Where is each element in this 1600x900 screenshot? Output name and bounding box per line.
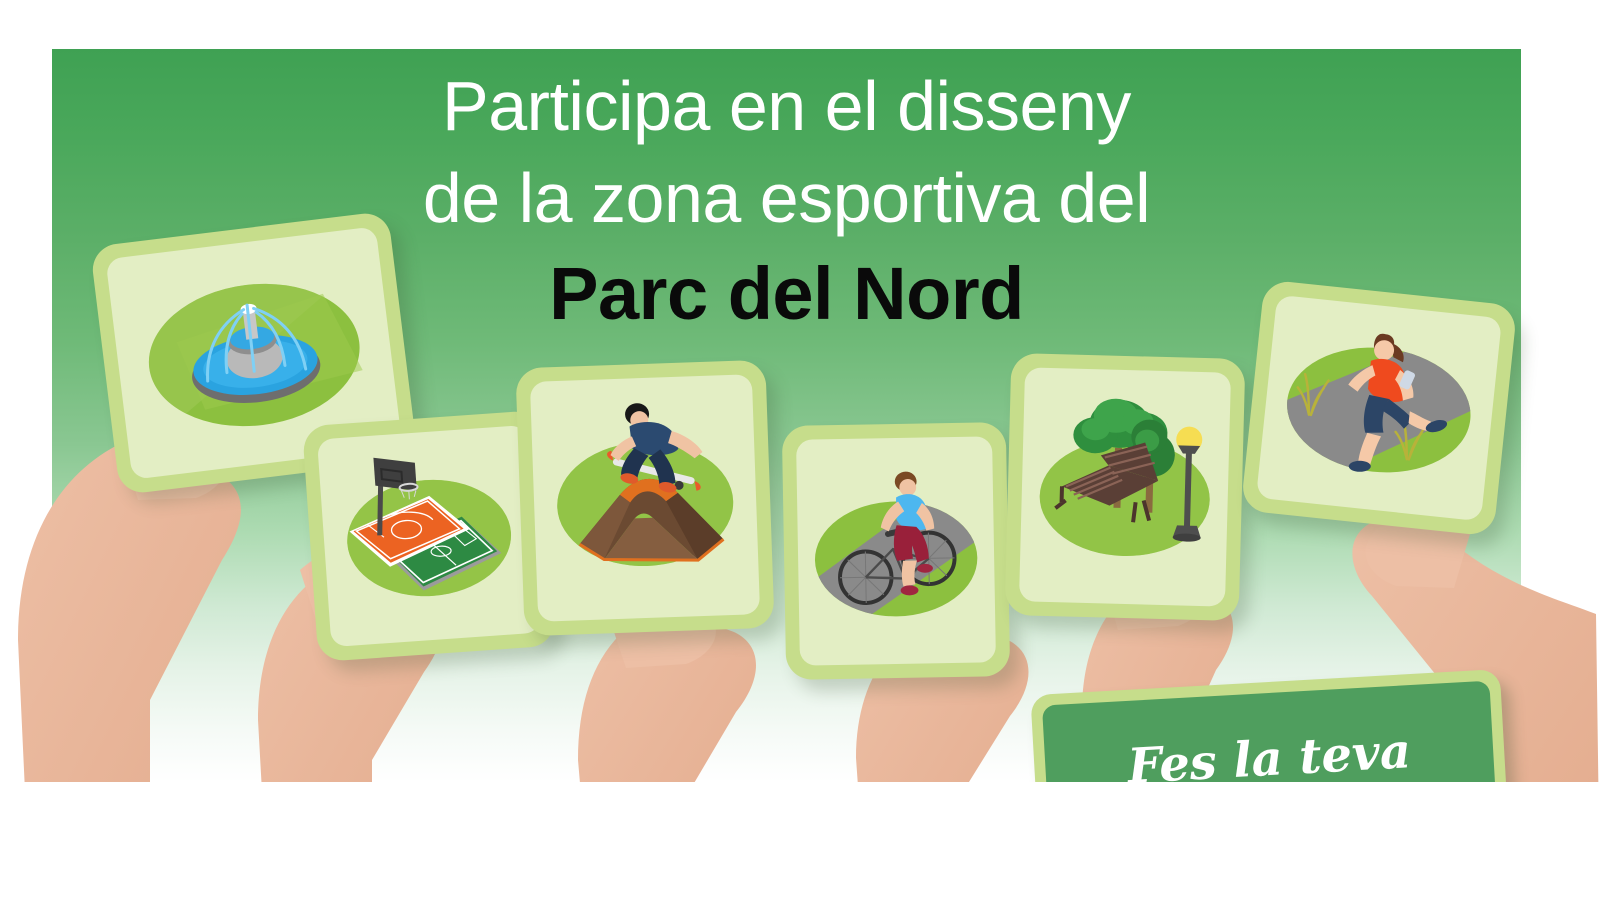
sports-court-icon (317, 425, 541, 647)
card-bike-path-inner (796, 436, 996, 665)
runner-icon (1256, 295, 1502, 522)
card-running-track-inner (1256, 295, 1502, 522)
poster-root: Participa en el disseny de la zona espor… (0, 0, 1600, 900)
card-sports-court-inner (317, 425, 541, 647)
card-skatepark-inner (530, 374, 760, 622)
bench-trees-lamp-icon (1019, 367, 1231, 606)
footer-bar: Ajuntament de Sabadell Hi col·labora: (0, 782, 1600, 900)
card-skatepark[interactable] (515, 360, 774, 637)
card-bike-path[interactable] (782, 422, 1010, 680)
cyclist-icon (796, 436, 996, 665)
card-park-bench[interactable] (1005, 353, 1246, 621)
card-park-bench-inner (1019, 367, 1231, 606)
skateboarder-icon (530, 374, 760, 622)
card-running-track[interactable] (1241, 279, 1518, 536)
